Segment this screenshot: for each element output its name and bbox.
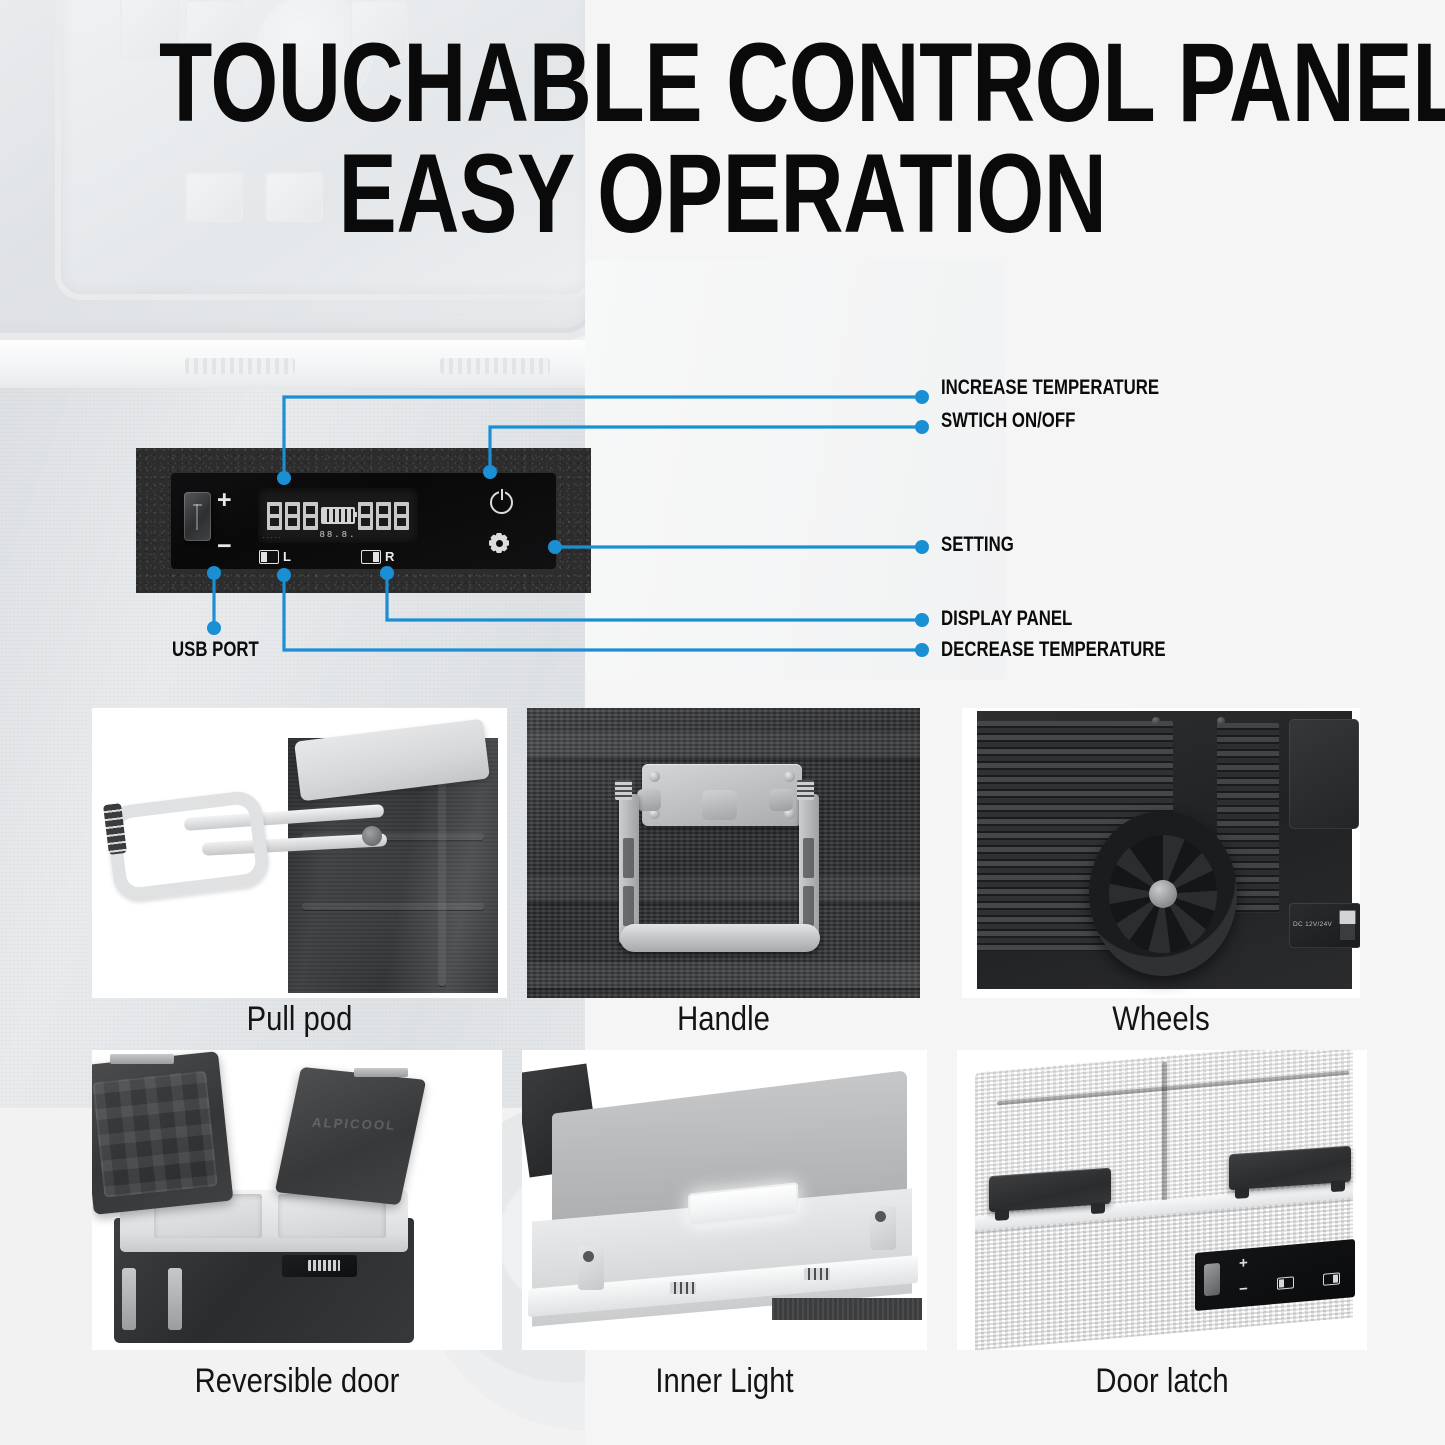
lid-left-open [92,1051,233,1215]
screw [1217,717,1225,725]
power-icon[interactable] [490,491,513,514]
usb-port-icon[interactable] [184,492,211,541]
rear-access-panel [1289,719,1359,829]
caption-inner-light: Inner Light [550,1362,898,1401]
seven-segment-digit [376,502,391,530]
divider-post-left [578,1246,604,1290]
liner-clip-left [670,1282,696,1294]
handle-boss-right [769,789,793,811]
wheel-tire [1089,811,1237,976]
handle-vent-right [797,780,814,800]
handle-grip-bar [620,924,820,952]
side-rail [122,1268,136,1330]
handle-arm-left [619,794,639,944]
handle-centre-knob [702,790,737,820]
caption-pull-pod: Pull pod [121,1000,478,1039]
display-panel: 88.8. ····· [258,488,418,543]
gear-icon[interactable] [489,533,509,553]
battery-icon [321,507,355,524]
caption-reversible-door: Reversible door [121,1362,474,1401]
caption-door-latch: Door latch [986,1362,1339,1401]
seven-segment-digit [285,502,300,530]
lid-centre-seam [1162,1062,1167,1202]
seven-segment-digit [358,502,373,530]
wheel-cap [1149,880,1177,908]
compartment-right-icon [1323,1272,1340,1285]
lcd-micro-legend: ····· [262,535,282,541]
feature-tile-reversible-door: ALPICOOL [92,1050,502,1350]
page-title: TOUCHABLE CONTROL PANEL EASY OPERATION [0,30,1445,247]
feature-tile-handle [527,708,920,998]
dc-voltage-label: DC 12V/24V [1293,921,1332,928]
control-panel-small [282,1255,357,1277]
handle-boss-left [637,789,661,811]
feature-tile-door-latch: ALPICOOL + − [957,1050,1367,1350]
hinge [110,1054,174,1064]
title-line-2: EASY OPERATION [159,141,1286,246]
caption-handle: Handle [555,1000,893,1039]
decrease-temperature-button[interactable]: − [217,534,232,559]
callout-label-switch-on-off: SWTICH ON/OFF [941,409,1075,433]
control-panel-photo: + − 88.8. ····· L R [136,448,591,593]
feature-tile-wheels: DC 12V/24V [962,708,1360,998]
seven-segment-digit [394,502,409,530]
zone-right-label: R [385,549,394,564]
feature-tile-pull-pod [92,708,507,998]
lcd-left-digits [267,502,318,530]
handle-vent-left [615,780,632,800]
hinge [354,1068,408,1077]
zone-left-indicator: L [259,549,291,564]
callout-label-decrease-temperature: DECREASE TEMPERATURE [941,638,1166,662]
handle-arm-right [799,794,819,944]
screw [649,771,660,782]
zone-right-indicator: R [361,549,394,564]
screw [784,771,795,782]
feature-tile-inner-light [522,1050,927,1350]
brand-embossing: ALPICOOL [311,1115,397,1133]
title-line-1: TOUCHABLE CONTROL PANEL [159,30,1286,135]
door-latch-right[interactable] [1229,1146,1351,1191]
seven-segment-digit [267,502,282,530]
door-latch-left[interactable] [989,1168,1111,1213]
seven-segment-digit [303,502,318,530]
side-rail [168,1268,182,1330]
cooler-rear-body: DC 12V/24V [977,711,1352,989]
usb-port-icon[interactable] [1204,1263,1220,1296]
zone-left-label: L [283,549,291,564]
screw [1152,717,1160,725]
callout-label-display-panel: DISPLAY PANEL [941,607,1072,631]
pull-handle-loop [105,789,272,903]
increase-temperature-button[interactable]: + [217,488,232,513]
divider-post-right [870,1206,896,1250]
lid-right-open: ALPICOOL [275,1067,427,1205]
liner-clip-right [804,1268,830,1280]
bg-vent [440,358,550,374]
control-panel-face: + − 88.8. ····· L R [171,473,556,569]
caption-wheels: Wheels [990,1000,1332,1039]
handle-pivot-pin [362,826,382,846]
body-edge-texture [772,1298,922,1320]
dc-power-socket-panel: DC 12V/24V [1289,903,1360,948]
bg-vent [185,358,295,374]
compartment-left-icon [1277,1276,1294,1289]
power-rocker-switch[interactable] [1339,910,1356,941]
lid-insulation-pattern [92,1070,218,1197]
increase-temperature-button[interactable]: + [1239,1254,1248,1272]
callout-label-usb-port: USB PORT [172,638,259,662]
decrease-temperature-button[interactable]: − [1239,1280,1248,1298]
compartment-right-icon [361,550,381,564]
lcd-right-digits [358,502,409,530]
callout-label-setting: SETTING [941,533,1014,557]
compartment-left-icon [259,550,279,564]
lcd-small [308,1260,340,1271]
callout-label-increase-temperature: INCREASE TEMPERATURE [941,376,1159,400]
